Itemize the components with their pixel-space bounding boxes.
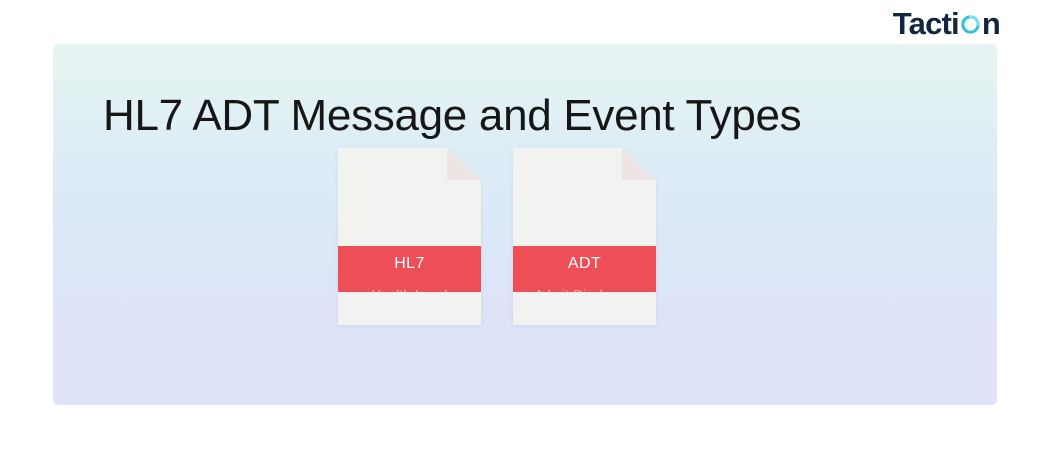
document-card-group: HL7 Health Level ADT Admit Discharge	[338, 148, 656, 325]
document-label: HL7	[394, 256, 425, 272]
document-subtext: Admit Discharge	[513, 288, 656, 292]
brand-name-part-1: Tacti	[893, 8, 959, 39]
hero-panel: HL7 ADT Message and Event Types HL7 Heal…	[53, 44, 997, 405]
brand-wordmark: Tacti n	[893, 8, 1000, 39]
document-label-band: HL7 Health Level	[338, 246, 481, 292]
brand-logo: Tacti n	[893, 6, 1000, 40]
document-label-band: ADT Admit Discharge	[513, 246, 656, 292]
page-fold-corner-icon	[447, 148, 481, 180]
document-card-hl7[interactable]: HL7 Health Level	[338, 148, 481, 325]
brand-ring-icon	[960, 14, 981, 35]
document-subtext: Health Level	[338, 288, 481, 292]
page-title: HL7 ADT Message and Event Types	[103, 91, 963, 141]
brand-name-part-2: n	[982, 8, 1000, 39]
document-label: ADT	[568, 256, 601, 272]
document-card-adt[interactable]: ADT Admit Discharge	[513, 148, 656, 325]
